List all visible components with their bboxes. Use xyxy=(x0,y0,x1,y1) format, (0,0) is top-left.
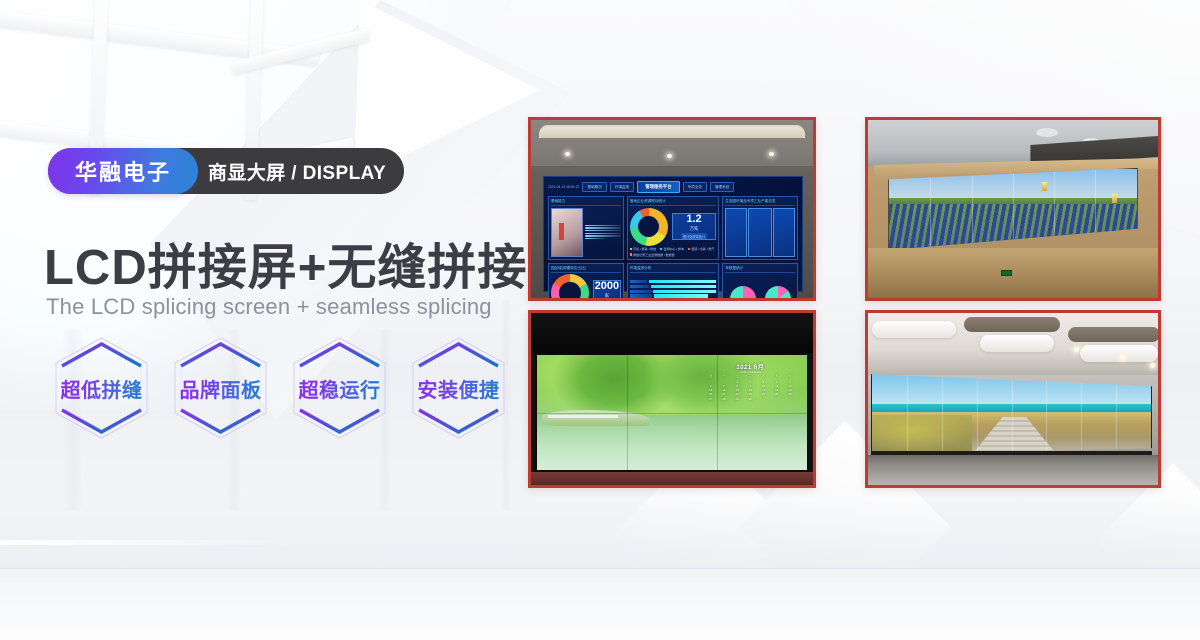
dune-grass xyxy=(872,415,973,454)
bar-row xyxy=(630,285,716,288)
brand-name-pill: 华融电子 xyxy=(48,148,198,194)
calendar-weekday: 一 xyxy=(718,375,731,379)
calendar-weekday: 三 xyxy=(744,375,757,379)
feature-badge-list: 超低拼缝 品牌面板 超稳运行 xyxy=(48,332,512,444)
calendar-day: 30 xyxy=(744,398,757,402)
feature-label: 安装便捷 xyxy=(418,374,500,403)
bar-chart xyxy=(630,274,716,298)
card-title: 园区域(规模效应占比) xyxy=(551,266,621,273)
feature-label: 超低拼缝 xyxy=(61,374,143,403)
dashboard-tab-2[interactable]: 环境监测 xyxy=(610,182,634,192)
bar-row xyxy=(630,290,716,293)
dashboard-tab-active[interactable]: 管理服务平台 xyxy=(637,181,679,193)
calendar-day: 25 xyxy=(770,393,783,397)
calendar-weekday: 日 xyxy=(704,375,717,379)
feature-badge-1: 超低拼缝 xyxy=(48,332,155,444)
calendar-weekday-row: 日 一 二 三 四 五 六 xyxy=(704,375,796,379)
ceiling-dark-panel xyxy=(964,317,1060,332)
card-title: 生态圈环境及专项工业产能总览 xyxy=(725,199,795,206)
ceiling-beam-horizontal-1 xyxy=(0,10,320,66)
feature-badge-4: 安装便捷 xyxy=(405,332,512,444)
calendar-subtitle: JUNE CALENDAR xyxy=(704,371,796,374)
flow-diagram xyxy=(725,208,795,257)
dashboard-tab-4[interactable]: 专项业务 xyxy=(683,182,707,192)
brand-badge: 商显大屏 / DISPLAY 华融电子 xyxy=(48,148,198,194)
dashboard-card: 基础能力 xyxy=(548,196,624,260)
feature-label: 超稳运行 xyxy=(299,374,381,403)
card-thumbnail xyxy=(551,208,583,257)
calendar-day: 26 xyxy=(784,393,797,397)
calendar-day: 24 xyxy=(757,393,770,397)
dashboard-card: 年数据统计 xyxy=(722,263,798,299)
photo-garden-video-wall: 2021 6月 JUNE CALENDAR 日 一 二 三 四 五 六 xyxy=(528,310,816,488)
calendar-day: 29 xyxy=(731,398,744,402)
wall-lamp-icon xyxy=(1112,194,1117,203)
dashboard-card: 生态圈环境及专项工业产能总览 xyxy=(722,196,798,260)
calendar-weekday: 四 xyxy=(757,375,770,379)
floor-highlight xyxy=(0,540,300,545)
garden-scene-image: 2021 6月 JUNE CALENDAR 日 一 二 三 四 五 六 xyxy=(537,355,807,470)
calendar-day-grid: 1 2 3 4 5 6 7 8 9 10 11 xyxy=(704,381,796,402)
legend-label: 能源 / 水耗 / 燃气 xyxy=(691,247,714,251)
metric-value: 2000 xyxy=(595,281,619,292)
calendar-weekday: 二 xyxy=(731,375,744,379)
downlight-icon xyxy=(667,154,672,158)
card-title: 基础能力 xyxy=(551,199,621,206)
metric-box: 1.2 万吨 累计处理量统计 xyxy=(672,213,716,240)
dashboard-timestamp: 2021-04-13 18:51:27 xyxy=(548,185,579,189)
ceiling-cove-light xyxy=(1080,345,1158,362)
metric-value: 1.2 xyxy=(686,214,701,225)
donut-chart xyxy=(551,274,589,298)
card-title: 年数据统计 xyxy=(725,266,795,273)
screen-stand-base xyxy=(531,472,813,485)
ceiling-dark-panel xyxy=(1068,327,1158,342)
exit-sign-icon xyxy=(1001,270,1012,276)
legend-label: 环境 / 能耗 / 排放 xyxy=(633,247,656,251)
ceiling-cove-light xyxy=(872,321,956,338)
chart-legend: 环境 / 能耗 / 排放 监测中心 / 样本 能源 / 水耗 / 燃气 排放记录… xyxy=(630,247,716,257)
card-title: 落地企业资源联动统计 xyxy=(630,199,716,206)
calendar-day: 27 xyxy=(704,398,717,402)
feature-badge-3: 超稳运行 xyxy=(286,332,393,444)
dashboard-card: 落地企业资源联动统计 1.2 万吨 累计处理量统计 环境 / 能耗 xyxy=(627,196,719,260)
metric-unit: 万吨 xyxy=(690,226,699,232)
pie-chart xyxy=(765,286,791,299)
dashboard-screen: 2021-04-13 18:51:27 基础概况 环境监测 管理服务平台 专项业… xyxy=(543,176,803,292)
wood-panel-lower xyxy=(868,248,1158,298)
bar-row xyxy=(630,280,716,283)
dashboard-card: 园区域(规模效应占比) 2000 家 环境监测点位 能源 xyxy=(548,263,624,299)
screen-bezel-top xyxy=(531,313,813,353)
white-railing xyxy=(548,415,618,418)
calendar-weekday: 五 xyxy=(770,375,783,379)
spotlight-icon xyxy=(1120,355,1125,360)
pie-chart xyxy=(730,286,756,299)
photo-hall-beach-wall xyxy=(865,310,1161,488)
legend-label: 排放记录工业监测数据 / 数据量 xyxy=(633,253,675,257)
ceiling-vent xyxy=(1036,128,1058,137)
floor-plane xyxy=(0,568,1200,640)
card-title: 环境监测分布 xyxy=(630,266,716,273)
wall-lamp-icon xyxy=(1042,182,1047,191)
donut-chart xyxy=(630,208,668,246)
hall-ceiling xyxy=(868,313,1158,375)
dashboard-header: 2021-04-13 18:51:27 基础概况 环境监测 管理服务平台 专项业… xyxy=(548,181,798,193)
floor-shadow xyxy=(0,500,1200,570)
dashboard-card: 环境监测分布 xyxy=(627,263,719,299)
metric-box: 2000 家 环境监测点位 xyxy=(593,280,621,299)
metric-caption: 累计处理量统计 xyxy=(681,233,707,239)
legend-label: 监测中心 / 样本 xyxy=(664,247,685,251)
page-title: LCD拼接屏+无缝拼接 xyxy=(44,228,527,299)
ceiling-cove-light xyxy=(539,125,805,138)
photo-corridor-solar-wall xyxy=(865,117,1161,301)
spotlight-icon xyxy=(1150,363,1155,368)
ceiling-cove-light xyxy=(980,335,1054,352)
calendar-day: 28 xyxy=(718,398,731,402)
calendar-weekday: 六 xyxy=(784,375,797,379)
calendar-widget: 2021 6月 JUNE CALENDAR 日 一 二 三 四 五 六 xyxy=(704,362,796,402)
page-subtitle: The LCD splicing screen + seamless splic… xyxy=(46,294,492,320)
dashboard-tab-5[interactable]: 管理系统 xyxy=(710,182,734,192)
room-ceiling xyxy=(531,120,813,166)
calendar-title: 2021 6月 xyxy=(704,362,796,371)
bar-row xyxy=(630,294,716,297)
feature-label: 品牌面板 xyxy=(180,374,262,403)
promo-banner: 商显大屏 / DISPLAY 华融电子 LCD拼接屏+无缝拼接 The LCD … xyxy=(0,0,1200,640)
spotlight-icon xyxy=(1074,347,1079,352)
video-wall-frame: 2021 6月 JUNE CALENDAR 日 一 二 三 四 五 六 xyxy=(535,353,809,472)
downlight-icon xyxy=(565,152,570,156)
card-text-lines xyxy=(585,208,621,257)
pie-chart-group xyxy=(725,274,795,298)
dashboard-card-grid: 基础能力 落地企业资源联动统计 xyxy=(548,196,798,298)
metric-unit: 家 xyxy=(605,293,609,299)
hall-floor xyxy=(868,455,1158,485)
photo-control-room-dashboard: 2021-04-13 18:51:27 基础概况 环境监测 管理服务平台 专项业… xyxy=(528,117,816,301)
downlight-icon xyxy=(769,152,774,156)
dashboard-tab-1[interactable]: 基础概况 xyxy=(582,182,606,192)
ceiling-beam-horizontal-3 xyxy=(231,28,370,74)
feature-badge-2: 品牌面板 xyxy=(167,332,274,444)
